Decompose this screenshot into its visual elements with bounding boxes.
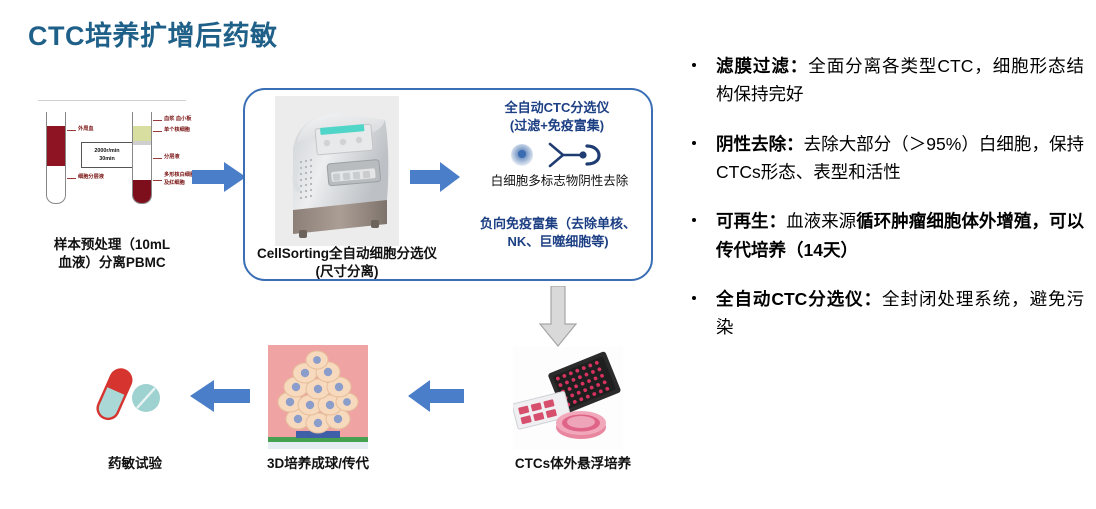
leader-line (153, 120, 162, 121)
wbc-negative-depletion-caption: 白细胞多标志物阴性去除 (462, 170, 657, 189)
bullet-item-auto-sorter: 全自动CTC分选仪：全封闭处理系统，避免污染 (686, 285, 1084, 342)
feature-bullet-list: 滤膜过滤：全面分离各类型CTC，细胞形态结构保持完好 阴性去除：去除大部分（＞9… (686, 52, 1084, 363)
arrow-left-culture-to-3d (408, 378, 464, 414)
label-mononuclear-cells: 单个核细胞 (164, 127, 190, 134)
ctc-suspension-culture-photo (513, 347, 623, 449)
process-flow-diagram: 外周血 细胞分层液 2000r/min 30min 血浆 血小板 单个核细胞 分… (0, 0, 690, 509)
negative-enrichment-line2: NK、巨噬细胞等) (458, 233, 658, 251)
arrow-right-step1-to-step2 (192, 160, 248, 194)
bullet-lead-2: 可再生 (716, 211, 769, 231)
bullet-item-negative-depletion: 阴性去除：去除大部分（＞95%）白细胞，保持CTCs形态、表型和活性 (686, 130, 1084, 187)
spheroid-drawing (268, 345, 368, 449)
instrument-caption-line1: CellSorting全自动细胞分选仪 (247, 245, 447, 263)
blood-tube-right (132, 112, 152, 204)
label-granulocytes-rbc-1: 多形核白细胞 (164, 172, 195, 179)
tube-layer-separation-fluid (133, 145, 150, 180)
3d-spheroid-illustration (268, 345, 368, 449)
bullet-item-filtration: 滤膜过滤：全面分离各类型CTC，细胞形态结构保持完好 (686, 52, 1084, 109)
leader-line (67, 130, 76, 131)
label-peripheral-blood: 外周血 (78, 126, 94, 133)
bullet-dot-icon (692, 218, 696, 222)
arrow-right-sorting-to-enrichment (410, 160, 462, 194)
blood-tube-left (46, 112, 66, 204)
blood-tubes-illustration: 外周血 细胞分层液 2000r/min 30min 血浆 血小板 单个核细胞 分… (36, 100, 188, 218)
pills-drawing (84, 362, 180, 432)
bullet-sep-3: ： (864, 289, 882, 309)
bullet-sep-2: ： (769, 211, 787, 231)
label-granulocytes-rbc-2: 及红细胞 (164, 180, 185, 187)
bullet-lead-3: 全自动CTC分选仪 (716, 289, 864, 309)
sorter-heading-line1: 全自动CTC分选仪 (462, 99, 652, 117)
drug-sensitivity-pills-illustration (84, 362, 180, 432)
step5-caption: 药敏试验 (70, 455, 200, 473)
negative-enrichment-text: 负向免疫富集（去除单核、 NK、巨噬细胞等) (458, 215, 658, 251)
instrument-drawing (275, 96, 399, 246)
culture-plasticware-drawing (513, 347, 623, 449)
centrifuge-parameters-box: 2000r/min 30min (81, 142, 133, 168)
bullet-sep-0: ： (790, 56, 808, 76)
tube-fill-whole-blood (47, 126, 64, 166)
slide-canvas: CTC培养扩增后药敏 外周血 细胞分层液 2000r/min 30min (0, 0, 1096, 509)
step3-caption: CTCs体外悬浮培养 (498, 455, 648, 473)
cell-sorting-instrument-photo (275, 96, 399, 246)
arrow-down-to-culture (538, 286, 578, 348)
step1-caption-line1: 样本预处理（10mL (28, 236, 196, 254)
arrow-left-3d-to-drug-test (190, 378, 250, 414)
step2-instrument-caption: CellSorting全自动细胞分选仪 (尺寸分离) (247, 245, 447, 281)
bullet-dot-icon (692, 141, 696, 145)
leader-line (67, 178, 76, 179)
bullet-body-plain-2: 血液来源 (786, 211, 856, 231)
leader-line (153, 158, 162, 159)
label-plasma-platelets: 血浆 血小板 (164, 116, 191, 123)
tube-layer-plasma (133, 126, 150, 141)
antibody-cell-icon (505, 140, 611, 170)
leader-line (153, 180, 162, 181)
negative-enrichment-line1: 负向免疫富集（去除单核、 (458, 215, 658, 233)
tube-layer-granulocytes-rbc (133, 180, 150, 203)
spin-speed: 2000r/min (94, 147, 119, 155)
step4-caption: 3D培养成球/传代 (248, 455, 388, 473)
label-separation-medium: 细胞分层液 (78, 174, 104, 181)
bullet-dot-icon (692, 63, 696, 67)
bullet-dot-icon (692, 296, 696, 300)
auto-ctc-sorter-heading: 全自动CTC分选仪 (过滤+免疫富集) (462, 99, 652, 134)
label-separation-fluid: 分层液 (164, 154, 180, 161)
step1-caption-line2: 血液）分离PBMC (28, 254, 196, 272)
step1-caption: 样本预处理（10mL 血液）分离PBMC (28, 236, 196, 272)
instrument-caption-line2: (尺寸分离) (247, 263, 447, 281)
bullet-sep-1: ： (786, 134, 804, 154)
bullet-item-renewable: 可再生：血液来源循环肿瘤细胞体外增殖，可以传代培养（14天） (686, 207, 1084, 264)
bullet-lead-1: 阴性去除 (716, 134, 786, 154)
sorter-heading-line2: (过滤+免疫富集) (462, 117, 652, 135)
figure-divider-line (38, 100, 186, 101)
bullet-lead-0: 滤膜过滤 (716, 56, 790, 76)
spin-time: 30min (99, 155, 115, 163)
leader-line (153, 131, 162, 132)
